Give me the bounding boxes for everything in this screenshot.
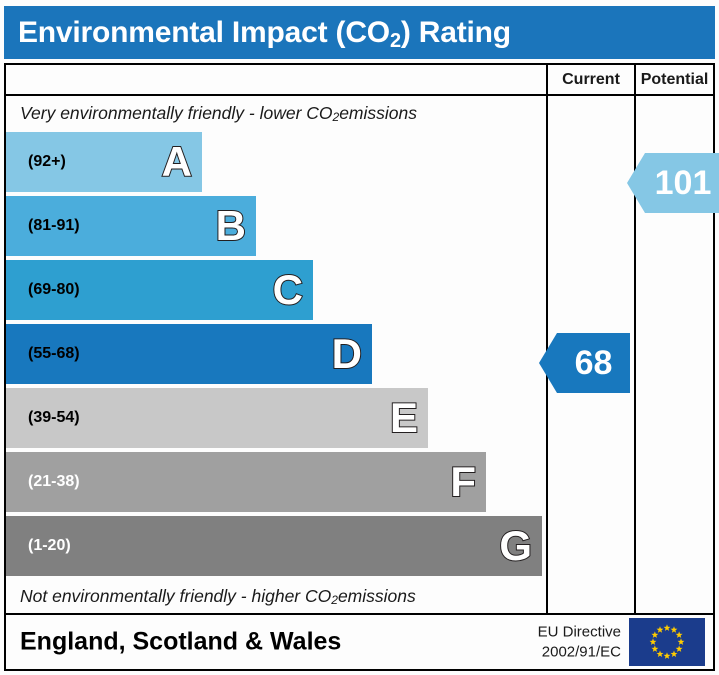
rating-band-e: (39-54) E	[6, 388, 428, 448]
rating-bands-area: Very environmentally friendly - lower CO…	[6, 96, 542, 613]
rating-band-e-range: (39-54)	[6, 409, 80, 427]
footer-directive: EU Directive 2002/91/EC	[538, 623, 621, 662]
rating-band-c: (69-80) C	[6, 260, 313, 320]
footer-region-label: England, Scotland & Wales	[20, 628, 341, 657]
potential-rating-value: 101	[655, 164, 712, 203]
page-title-tail: ) Rating	[401, 16, 511, 49]
epc-environmental-impact-chart: Environmental Impact (CO2) Rating Curren…	[0, 0, 719, 675]
rating-band-g-letter: G	[499, 525, 532, 567]
rating-band-c-range: (69-80)	[6, 281, 80, 299]
rating-band-f-letter: F	[450, 461, 476, 503]
chart-footer: England, Scotland & Wales EU Directive 2…	[4, 615, 715, 671]
rating-band-d: (55-68) D	[6, 324, 372, 384]
rating-band-e-letter: E	[390, 397, 418, 439]
column-header-potential: Potential	[634, 65, 713, 94]
page-title: Environmental Impact (CO2) Rating	[4, 16, 511, 50]
caption-top-subscript: 2	[333, 110, 340, 124]
footer-directive-line2: 2002/91/EC	[538, 642, 621, 662]
footer-directive-line1: EU Directive	[538, 623, 621, 643]
potential-marker-arrow-icon	[627, 153, 645, 213]
potential-rating-marker: 101	[645, 153, 719, 213]
rating-band-c-letter: C	[273, 269, 303, 311]
caption-top-suffix: emissions	[339, 103, 417, 124]
caption-not-friendly: Not environmentally friendly - higher CO…	[6, 579, 542, 613]
caption-bottom-suffix: emissions	[338, 586, 416, 607]
column-header-current: Current	[546, 65, 634, 94]
rating-band-f: (21-38) F	[6, 452, 486, 512]
caption-top-prefix: Very environmentally friendly - lower CO	[20, 103, 333, 124]
chart-title-bar: Environmental Impact (CO2) Rating	[4, 6, 715, 59]
rating-band-d-range: (55-68)	[6, 345, 80, 363]
rating-band-a-letter: A	[162, 141, 192, 183]
page-title-subscript: 2	[390, 30, 401, 52]
rating-band-b-range: (81-91)	[6, 217, 80, 235]
current-marker-arrow-icon	[539, 333, 557, 393]
current-rating-value: 68	[575, 344, 613, 383]
rating-band-a: (92+) A	[6, 132, 202, 192]
rating-band-f-range: (21-38)	[6, 473, 80, 491]
rating-band-g-range: (1-20)	[6, 537, 71, 555]
column-header-row: Current Potential	[6, 65, 713, 96]
current-rating-marker: 68	[557, 333, 630, 393]
caption-very-friendly: Very environmentally friendly - lower CO…	[6, 96, 542, 130]
rating-band-b-letter: B	[216, 205, 246, 247]
rating-band-a-range: (92+)	[6, 153, 66, 171]
rating-band-b: (81-91) B	[6, 196, 256, 256]
caption-bottom-subscript: 2	[331, 593, 338, 607]
page-title-main: Environmental Impact (CO	[18, 16, 390, 49]
rating-band-g: (1-20) G	[6, 516, 542, 576]
caption-bottom-prefix: Not environmentally friendly - higher CO	[20, 586, 331, 607]
chart-frame: Current Potential Very environmentally f…	[4, 63, 715, 615]
eu-flag-icon	[629, 618, 705, 666]
rating-band-d-letter: D	[332, 333, 362, 375]
